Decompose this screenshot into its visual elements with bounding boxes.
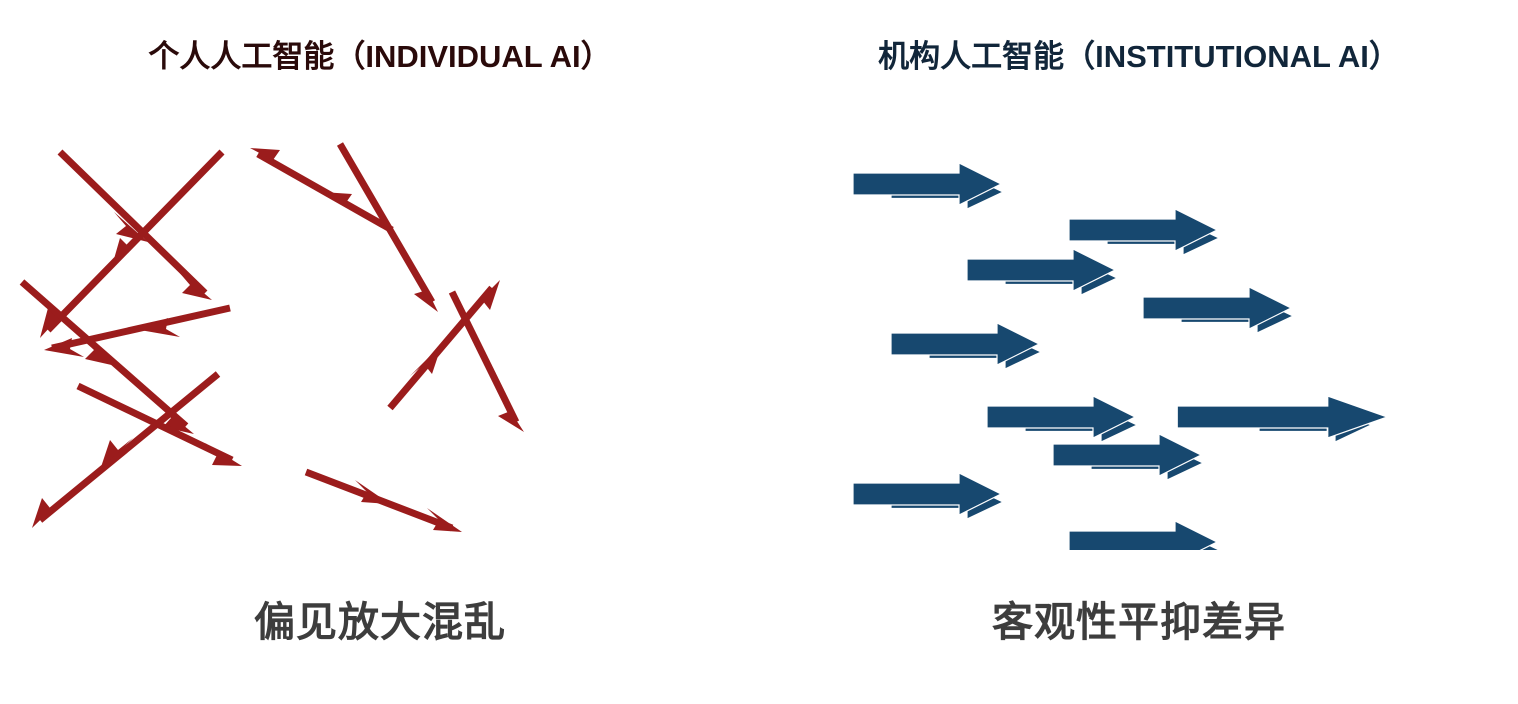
chaotic-arrow [390, 280, 500, 408]
panel-caption-individual-ai: 偏见放大混乱 [0, 588, 820, 648]
aligned-arrow [1069, 209, 1219, 255]
aligned-arrow [987, 396, 1137, 442]
panel-institutional-ai: 机构人工智能（INSTITUTIONAL AI） [760, 0, 1518, 704]
chaotic-arrow-group [22, 144, 524, 532]
chaotic-arrow [32, 374, 218, 528]
slide-canvas: 个人人工智能（INDIVIDUAL AI） [0, 0, 1518, 704]
aligned-arrow [891, 323, 1041, 369]
aligned-arrow [853, 163, 1003, 209]
chaotic-arrow [452, 292, 524, 432]
chaotic-arrow [60, 152, 212, 300]
chaotic-arrows-svg [0, 130, 760, 550]
panel-title-individual-ai: 个人人工智能（INDIVIDUAL AI） [0, 38, 830, 77]
aligned-arrow [1143, 287, 1293, 333]
panel-title-institutional-ai: 机构人工智能（INSTITUTIONAL AI） [760, 38, 1518, 77]
chaotic-arrow [250, 148, 392, 230]
aligned-arrow-long [1177, 396, 1387, 442]
aligned-arrows-graphic [760, 130, 1518, 550]
chaotic-arrow [40, 152, 222, 338]
aligned-arrow [853, 473, 1003, 519]
aligned-arrow [1069, 521, 1219, 550]
aligned-arrows-svg [760, 130, 1518, 550]
aligned-arrow-group [853, 163, 1387, 550]
chaotic-arrow [340, 144, 438, 312]
chaotic-arrow [44, 308, 230, 357]
panel-caption-institutional-ai: 客观性平抑差异 [760, 588, 1518, 648]
panel-individual-ai: 个人人工智能（INDIVIDUAL AI） [0, 0, 760, 704]
aligned-arrow [967, 249, 1117, 295]
aligned-arrow [1053, 434, 1203, 480]
chaotic-arrows-graphic [0, 130, 760, 550]
chaotic-arrow [306, 472, 462, 532]
